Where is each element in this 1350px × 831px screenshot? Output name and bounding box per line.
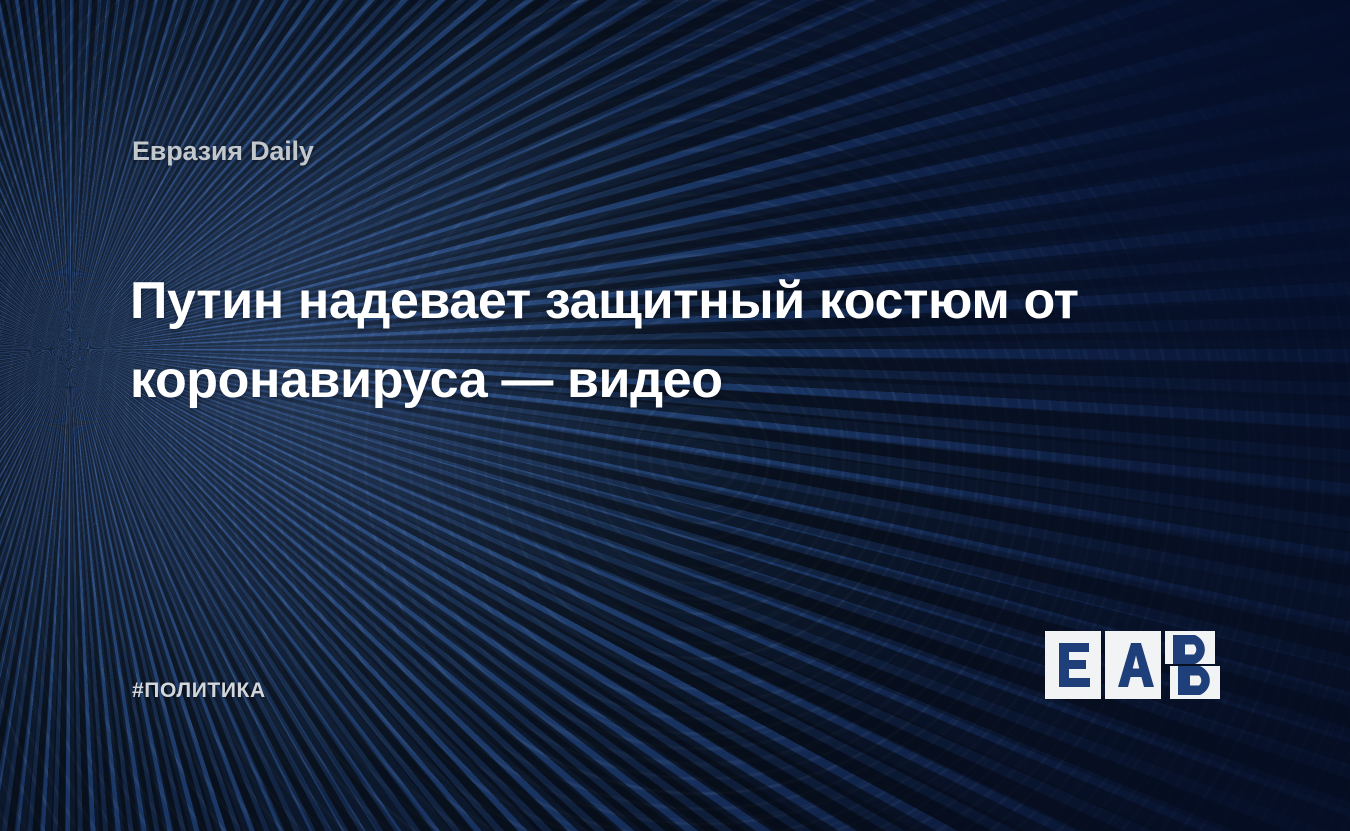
category-tag-politics[interactable]: #ПОЛИТИКА — [132, 679, 266, 703]
headline: Путин надевает защитный костюм от корона… — [130, 262, 1130, 420]
card-content: Евразия Daily Путин надевает защитный ко… — [0, 0, 1350, 831]
news-card: Евразия Daily Путин надевает защитный ко… — [0, 0, 1350, 831]
eadaily-logo[interactable] — [1045, 631, 1220, 699]
brand-title: Евразия Daily — [132, 136, 314, 167]
